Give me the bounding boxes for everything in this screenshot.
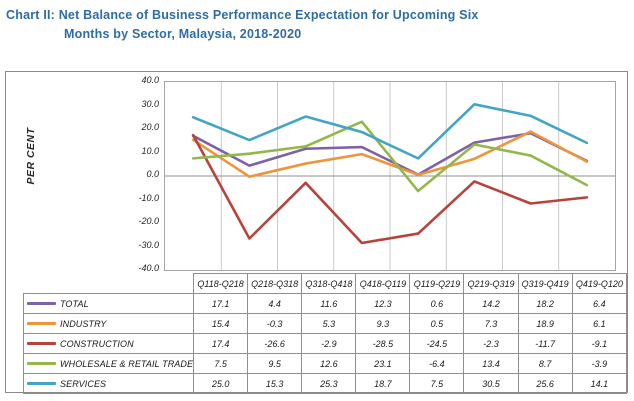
table-cell-value: 9.5 bbox=[248, 354, 302, 374]
table-cell-value: 17.1 bbox=[194, 294, 248, 314]
table-cell-value: 13.4 bbox=[464, 354, 518, 374]
y-axis-tick-labels: 40.030.020.010.00.0-10.0-20.0-30.0-40.0 bbox=[111, 72, 159, 272]
legend-label: SERVICES bbox=[60, 379, 106, 389]
page-title: Chart II: Net Balance of Business Perfor… bbox=[6, 6, 626, 44]
plot-area bbox=[164, 81, 616, 271]
legend-label: TOTAL bbox=[60, 299, 89, 309]
table-corner-cell bbox=[24, 274, 194, 294]
table-cell-value: -28.5 bbox=[356, 334, 410, 354]
table-cell-value: 14.1 bbox=[572, 374, 626, 394]
table-row: TOTAL17.14.411.612.30.614.218.26.4 bbox=[24, 294, 627, 314]
table-column-header: Q219-Q319 bbox=[464, 274, 518, 294]
legend-color-swatch bbox=[27, 382, 56, 385]
table-cell-value: -26.6 bbox=[248, 334, 302, 354]
table-column-header: Q418-Q119 bbox=[356, 274, 410, 294]
table-row: WHOLESALE & RETAIL TRADE7.59.512.623.1-6… bbox=[24, 354, 627, 374]
chart-page: Chart II: Net Balance of Business Perfor… bbox=[0, 0, 634, 401]
table-column-header: Q218-Q318 bbox=[248, 274, 302, 294]
y-tick-label: 10.0 bbox=[115, 146, 159, 156]
table-cell-value: 8.7 bbox=[518, 354, 572, 374]
table-cell-value: 5.3 bbox=[302, 314, 356, 334]
table-cell-value: -6.4 bbox=[410, 354, 464, 374]
table-cell-value: -9.1 bbox=[572, 334, 626, 354]
table-cell-value: -24.5 bbox=[410, 334, 464, 354]
table-cell-value: 7.5 bbox=[194, 354, 248, 374]
table-cell-value: -2.9 bbox=[302, 334, 356, 354]
y-tick-label: 20.0 bbox=[115, 122, 159, 132]
table-cell-value: -0.3 bbox=[248, 314, 302, 334]
table-cell-value: 18.2 bbox=[518, 294, 572, 314]
table-column-header: Q419-Q120 bbox=[572, 274, 626, 294]
legend-cell: WHOLESALE & RETAIL TRADE bbox=[24, 354, 194, 374]
table-cell-value: -2.3 bbox=[464, 334, 518, 354]
chart-canvas: PER CENT 40.030.020.010.00.0-10.0-20.0-3… bbox=[6, 72, 627, 272]
table-cell-value: 25.6 bbox=[518, 374, 572, 394]
table-cell-value: 4.4 bbox=[248, 294, 302, 314]
legend-color-swatch bbox=[27, 362, 56, 365]
table-cell-value: 0.6 bbox=[410, 294, 464, 314]
table-cell-value: 18.9 bbox=[518, 314, 572, 334]
legend-cell: CONSTRUCTION bbox=[24, 334, 194, 354]
table-body: TOTAL17.14.411.612.30.614.218.26.4INDUST… bbox=[24, 294, 627, 394]
legend-cell: TOTAL bbox=[24, 294, 194, 314]
table-cell-value: 12.6 bbox=[302, 354, 356, 374]
data-table: Q118-Q218Q218-Q318Q318-Q418Q418-Q119Q119… bbox=[23, 273, 627, 394]
legend-label: CONSTRUCTION bbox=[60, 339, 134, 349]
legend-color-swatch bbox=[27, 302, 56, 305]
table-cell-value: 7.3 bbox=[464, 314, 518, 334]
table-cell-value: -3.9 bbox=[572, 354, 626, 374]
table-cell-value: -11.7 bbox=[518, 334, 572, 354]
y-tick-label: 0.0 bbox=[115, 169, 159, 179]
table-column-header: Q319-Q419 bbox=[518, 274, 572, 294]
y-tick-label: -40.0 bbox=[115, 263, 159, 273]
table-cell-value: 23.1 bbox=[356, 354, 410, 374]
legend-cell: SERVICES bbox=[24, 374, 194, 394]
y-tick-label: -20.0 bbox=[115, 216, 159, 226]
y-tick-label: 40.0 bbox=[115, 75, 159, 85]
table-cell-value: 15.3 bbox=[248, 374, 302, 394]
series-lines bbox=[165, 82, 615, 270]
table-cell-value: 12.3 bbox=[356, 294, 410, 314]
y-tick-label: -10.0 bbox=[115, 193, 159, 203]
table-cell-value: 9.3 bbox=[356, 314, 410, 334]
table-header-row: Q118-Q218Q218-Q318Q318-Q418Q418-Q119Q119… bbox=[24, 274, 627, 294]
y-tick-label: 30.0 bbox=[115, 99, 159, 109]
legend-label: WHOLESALE & RETAIL TRADE bbox=[60, 359, 193, 369]
table-row: SERVICES25.015.325.318.77.530.525.614.1 bbox=[24, 374, 627, 394]
table-cell-value: 14.2 bbox=[464, 294, 518, 314]
table-cell-value: 25.3 bbox=[302, 374, 356, 394]
table-cell-value: 11.6 bbox=[302, 294, 356, 314]
legend-cell: INDUSTRY bbox=[24, 314, 194, 334]
legend-color-swatch bbox=[27, 342, 56, 345]
table-cell-value: 6.4 bbox=[572, 294, 626, 314]
table-column-header: Q118-Q218 bbox=[194, 274, 248, 294]
table-cell-value: 30.5 bbox=[464, 374, 518, 394]
y-axis-title: PER CENT bbox=[25, 101, 37, 211]
table-row: INDUSTRY15.4-0.35.39.30.57.318.96.1 bbox=[24, 314, 627, 334]
table-cell-value: 6.1 bbox=[572, 314, 626, 334]
table-row: CONSTRUCTION17.4-26.6-2.9-28.5-24.5-2.3-… bbox=[24, 334, 627, 354]
chart-frame: PER CENT 40.030.020.010.00.0-10.0-20.0-3… bbox=[5, 71, 628, 393]
table-cell-value: 25.0 bbox=[194, 374, 248, 394]
table-cell-value: 15.4 bbox=[194, 314, 248, 334]
table-column-header: Q119-Q219 bbox=[410, 274, 464, 294]
page-title-line-1: Chart II: Net Balance of Business Perfor… bbox=[6, 6, 626, 25]
table-cell-value: 0.5 bbox=[410, 314, 464, 334]
table-column-header: Q318-Q418 bbox=[302, 274, 356, 294]
page-title-line-2: Months by Sector, Malaysia, 2018-2020 bbox=[6, 25, 626, 44]
y-tick-label: -30.0 bbox=[115, 240, 159, 250]
legend-color-swatch bbox=[27, 322, 56, 325]
table-cell-value: 18.7 bbox=[356, 374, 410, 394]
table-cell-value: 17.4 bbox=[194, 334, 248, 354]
table-cell-value: 7.5 bbox=[410, 374, 464, 394]
legend-label: INDUSTRY bbox=[60, 319, 106, 329]
